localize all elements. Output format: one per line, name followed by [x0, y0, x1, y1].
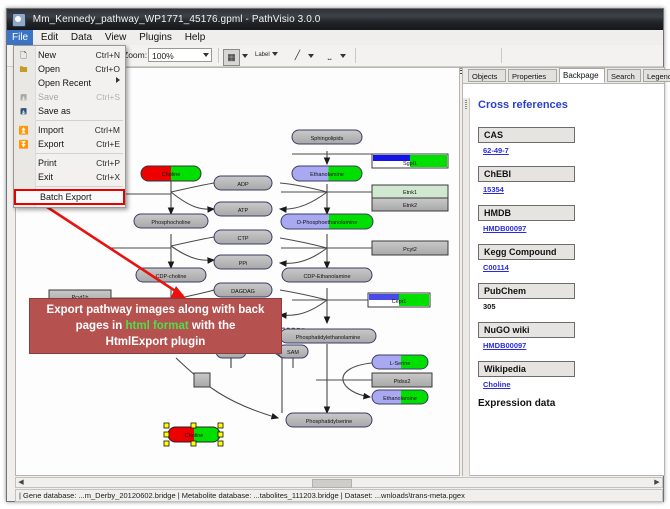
panel-resize-grip[interactable]	[463, 98, 470, 476]
node-o-phosphoethanolamine: O-Phosphoethanolamine	[281, 214, 373, 229]
xref-wikipedia: Wikipedia Choline	[478, 359, 658, 389]
new-document-icon: 🗋	[18, 50, 29, 61]
datanode-icon: ▦	[223, 49, 240, 66]
menu-item-edit[interactable]: Edit	[36, 30, 63, 45]
menu-batch-export[interactable]: Batch Export	[14, 189, 125, 205]
gene-sgpl1: Sgpl1	[372, 154, 448, 168]
side-panel-body: Cross references CAS 62-49-7 ChEBI 15354…	[463, 83, 664, 476]
chevron-down-icon	[203, 53, 209, 57]
svg-text:Etnk2: Etnk2	[403, 203, 417, 209]
node-cdp-choline: CDP-choline	[136, 268, 206, 282]
pathvisio-app-icon	[12, 13, 26, 27]
line-tool-button[interactable]: ╱	[289, 47, 316, 64]
node-ctp: CTP	[214, 230, 272, 244]
gene-cept1: Cept1	[368, 293, 430, 307]
xref-link-wikipedia[interactable]: Choline	[483, 380, 658, 389]
menu-separator-3	[36, 186, 123, 187]
svg-text:ADP: ADP	[237, 182, 249, 188]
node-phosphatidylserine: Phosphatidylserine	[286, 413, 372, 427]
xref-label-chebi: ChEBI	[478, 166, 575, 182]
chevron-down-icon	[242, 54, 248, 58]
svg-text:Cept1: Cept1	[392, 299, 407, 305]
xref-cas: CAS 62-49-7	[478, 125, 658, 155]
svg-text:Sgpl1: Sgpl1	[403, 161, 417, 167]
menu-separator-2	[36, 153, 123, 154]
xref-label-pubchem: PubChem	[478, 283, 575, 299]
expression-data-heading: Expression data	[478, 398, 658, 409]
cross-references-title: Cross references	[478, 99, 658, 111]
line-icon: ╱	[289, 47, 306, 64]
svg-text:Etnk1: Etnk1	[403, 190, 417, 196]
datanode-tool-button[interactable]: ▦	[223, 47, 250, 64]
svg-text:SAM: SAM	[287, 350, 299, 356]
node-ppi: PPi	[214, 255, 272, 269]
xref-nugo-wiki: NuGO wiki HMDB00097	[478, 320, 658, 350]
node-ethanolamine-1: Ethanolamine	[292, 166, 362, 181]
save-disk-icon: 🖪	[18, 92, 29, 103]
node-choline: Choline	[141, 166, 201, 181]
xref-pubchem: PubChem 305	[478, 281, 658, 311]
svg-text:Choline: Choline	[162, 172, 181, 178]
chevron-down-icon	[272, 52, 278, 56]
node-atp: ATP	[214, 202, 272, 216]
menu-item-data[interactable]: Data	[66, 30, 97, 45]
menu-new[interactable]: 🗋 NewCtrl+N	[14, 48, 125, 62]
side-panel-tabs: Objects Properties Backpage Search Legen…	[463, 68, 664, 84]
svg-text:Phosphatidylethanolamine: Phosphatidylethanolamine	[296, 335, 361, 341]
node-adp: ADP	[214, 176, 272, 190]
menu-print[interactable]: PrintCtrl+P	[14, 156, 125, 170]
horizontal-scrollbar[interactable]: ◀ ▶	[15, 477, 663, 488]
label-tool-button[interactable]: Label	[255, 47, 280, 64]
interaction-icon: ⎵	[321, 47, 338, 64]
tab-properties[interactable]: Properties	[508, 69, 557, 82]
xref-link-nugo-wiki[interactable]: HMDB00097	[483, 341, 658, 350]
xref-label-kegg-compound: Kegg Compound	[478, 244, 575, 260]
xref-kegg-compound: Kegg Compound C00114	[478, 242, 658, 272]
save-as-disk-icon: 🖪	[18, 106, 29, 117]
svg-text:CDP-choline: CDP-choline	[156, 274, 187, 280]
svg-text:Sphingolipids: Sphingolipids	[311, 136, 344, 142]
callout-highlight: html format	[125, 320, 188, 332]
label-icon: Label	[255, 52, 270, 58]
menu-bar: File Edit Data View Plugins Help	[7, 30, 663, 46]
menu-item-help[interactable]: Help	[180, 30, 211, 45]
xref-label-wikipedia: Wikipedia	[478, 361, 575, 377]
node-dagdag: DAGDAG	[214, 283, 272, 297]
node-ethanolamine-2: Ethanolamine	[372, 390, 428, 404]
application-window: Mm_Kennedy_pathway_WP1771_45176.gpml - P…	[6, 8, 664, 502]
svg-text:Phosphocholine: Phosphocholine	[151, 220, 190, 226]
tab-backpage[interactable]: Backpage	[559, 68, 605, 83]
menu-separator-1	[36, 120, 123, 121]
status-bar: | Gene database: ...m_Derby_20120602.bri…	[15, 489, 663, 502]
node-phosphocholine: Phosphocholine	[134, 214, 208, 228]
xref-label-nugo-wiki: NuGO wiki	[478, 322, 575, 338]
xref-value-pubchem: 305	[483, 302, 658, 311]
svg-text:CTP: CTP	[238, 236, 249, 242]
svg-text:Pcyt2: Pcyt2	[403, 247, 417, 253]
xref-label-cas: CAS	[478, 127, 575, 143]
zoom-combo[interactable]: 100%	[148, 48, 212, 62]
xref-link-cas[interactable]: 62-49-7	[483, 146, 658, 155]
xref-label-hmdb: HMDB	[478, 205, 575, 221]
xref-chebi: ChEBI 15354	[478, 164, 658, 194]
toolbar-separator-2	[218, 48, 219, 63]
svg-text:DAGDAG: DAGDAG	[231, 289, 255, 295]
node-phosphatidylethanolamine: Phosphatidylethanolamine	[280, 329, 376, 343]
window-title: Mm_Kennedy_pathway_WP1771_45176.gpml - P…	[33, 14, 321, 25]
menu-save-as[interactable]: 🖪 Save as	[14, 104, 125, 118]
xref-link-hmdb[interactable]: HMDB00097	[483, 224, 658, 233]
tab-legend[interactable]: Legend	[643, 69, 670, 82]
menu-exit[interactable]: ExitCtrl+X	[14, 170, 125, 184]
menu-import[interactable]: ⏫ ImportCtrl+M	[14, 123, 125, 137]
node-cdp-ethanolamine: CDP-Ethanolamine	[282, 268, 372, 282]
chevron-right-icon	[116, 77, 120, 83]
scroll-right-icon[interactable]: ▶	[652, 478, 662, 487]
xref-link-chebi[interactable]: 15354	[483, 185, 658, 194]
menu-open[interactable]: 🖿 OpenCtrl+O	[14, 62, 125, 76]
zoom-label: Zoom:	[123, 47, 147, 64]
gene-anchor-box	[194, 373, 210, 387]
menu-open-recent[interactable]: Open Recent	[14, 76, 125, 90]
gene-pcyt2: Pcyt2	[372, 241, 448, 255]
svg-text:Phosphatidylserine: Phosphatidylserine	[306, 419, 352, 425]
gene-etnk2: Etnk2	[372, 198, 448, 211]
metabolite-nodes: Sphingolipids Choline Ethanolamine ADP	[116, 130, 428, 446]
file-menu-popup[interactable]: 🗋 NewCtrl+N 🖿 OpenCtrl+O Open Recent 🖪 S…	[13, 45, 126, 208]
node-choline-selected: Choline	[164, 423, 223, 446]
node-l-serine: L-Serine	[372, 355, 428, 369]
zoom-value: 100%	[152, 51, 174, 61]
menu-item-file[interactable]: File	[7, 30, 33, 45]
toolbar-separator-4	[501, 48, 502, 63]
gene-ptdss2: Ptdss2	[372, 373, 432, 387]
svg-text:O-Phosphoethanolamine: O-Phosphoethanolamine	[297, 220, 358, 226]
node-sphingolipids: Sphingolipids	[292, 130, 362, 144]
open-folder-icon: 🖿	[18, 64, 29, 75]
svg-text:PPi: PPi	[239, 261, 248, 267]
callout-line-1: Export pathway images along with back	[30, 302, 281, 318]
scrollbar-thumb[interactable]	[312, 479, 352, 488]
gene-etnk1: Etnk1	[372, 185, 448, 198]
scroll-left-icon[interactable]: ◀	[16, 478, 26, 487]
svg-text:L-Serine: L-Serine	[390, 361, 411, 367]
svg-text:Choline: Choline	[185, 433, 204, 439]
toolbar-separator-3	[355, 48, 356, 63]
side-panel: Objects Properties Backpage Search Legen…	[462, 67, 665, 476]
tab-search[interactable]: Search	[607, 69, 641, 82]
backpage-content: Cross references CAS 62-49-7 ChEBI 15354…	[470, 83, 664, 476]
svg-text:CDP-Ethanolamine: CDP-Ethanolamine	[303, 274, 350, 280]
node-sam: SAM	[278, 345, 308, 358]
title-bar: Mm_Kennedy_pathway_WP1771_45176.gpml - P…	[7, 9, 663, 30]
svg-text:Ethanolamine: Ethanolamine	[310, 172, 344, 178]
import-icon: ⏫	[18, 125, 29, 136]
menu-item-view[interactable]: View	[100, 30, 132, 45]
svg-text:Ethanolamine: Ethanolamine	[383, 396, 417, 402]
svg-text:ATP: ATP	[238, 208, 249, 214]
screenshot-root: Mm_Kennedy_pathway_WP1771_45176.gpml - P…	[0, 0, 670, 509]
xref-link-kegg-compound[interactable]: C00114	[483, 263, 658, 272]
tab-objects[interactable]: Objects	[468, 69, 506, 82]
menu-item-plugins[interactable]: Plugins	[134, 30, 177, 45]
callout-line-2: pages in html format with the	[30, 318, 281, 334]
menu-export[interactable]: ⏬ ExportCtrl+E	[14, 137, 125, 151]
interaction-tool-button[interactable]: ⎵	[321, 47, 348, 64]
chevron-down-icon	[308, 54, 314, 58]
chevron-down-icon	[340, 54, 346, 58]
svg-text:Ptdss2: Ptdss2	[394, 379, 411, 385]
callout-line-3: HtmlExport plugin	[30, 334, 281, 350]
menu-save: 🖪 SaveCtrl+S	[14, 90, 125, 104]
export-icon: ⏬	[18, 139, 29, 150]
annotation-callout: Export pathway images along with back pa…	[29, 298, 282, 354]
xref-hmdb: HMDB HMDB00097	[478, 203, 658, 233]
